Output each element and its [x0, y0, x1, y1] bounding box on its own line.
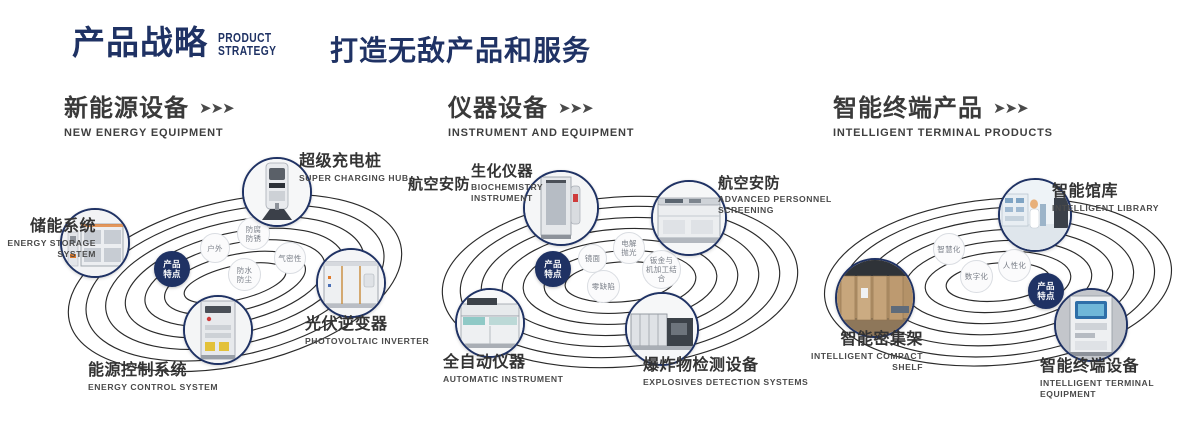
caption-intelligent-terminal-equipment: 智能终端设备 INTELLIGENT TERMINAL EQUIPMENT: [1040, 358, 1200, 400]
caption-en: ENERGY CONTROL SYSTEM: [88, 382, 218, 393]
caption-en: PHOTOVOLTAIC INVERTER: [305, 336, 429, 347]
feature-line1: 镜面: [585, 254, 601, 263]
node-advanced-personnel-screening[interactable]: [651, 180, 727, 256]
cluster-new-energy: 产品 特点 户外 防腐 防锈 防水 防尘 气密性: [50, 155, 420, 385]
caption-cn: 光伏逆变器: [305, 316, 429, 334]
caption-biochemistry-instrument: 生化仪器 BIOCHEMISTRY INSTRUMENT: [471, 163, 543, 204]
caption-cn: 超级充电桩: [299, 153, 409, 171]
node-photovoltaic-inverter[interactable]: [316, 248, 386, 318]
caption-cn: 航空安防: [400, 176, 470, 193]
caption-cn: 能源控制系统: [88, 362, 218, 380]
caption-cn: 航空安防: [718, 175, 832, 192]
caption-cn: 智能终端设备: [1040, 358, 1200, 376]
screening-machine-illustration: [653, 182, 725, 254]
section-subtitle-en: INTELLIGENT TERMINAL PRODUCTS: [833, 127, 1053, 139]
feature-line1: 气密性: [278, 254, 301, 263]
caption-en: INTELLIGENT TERMINAL EQUIPMENT: [1040, 378, 1200, 400]
feature-line2: 机加工结合: [643, 265, 680, 283]
page-title-en-line2: STRATEGY: [218, 45, 276, 58]
page-header: 产品战略 PRODUCT STRATEGY: [72, 26, 289, 60]
feature-line1: 数字化: [965, 272, 988, 281]
feature-core-line1: 产品: [1037, 281, 1055, 291]
caption-cn: 智能馆库: [1052, 183, 1159, 201]
chevron-right-icon: ➤➤➤: [199, 96, 234, 122]
product-strategy-infographic: 产品战略 PRODUCT STRATEGY 打造无敌产品和服务 新能源设备 ➤➤…: [0, 0, 1200, 422]
node-intelligent-compact-shelf[interactable]: [835, 258, 915, 338]
feature-bubble: 防水 防尘: [228, 258, 261, 291]
node-energy-control-system[interactable]: [183, 295, 253, 365]
feature-line1: 防腐: [246, 225, 262, 234]
caption-cn: 储能系统: [0, 218, 96, 236]
caption-super-charging-hub: 超级充电桩 SUPER CHARGING HUB: [299, 153, 409, 184]
section-title-new-energy: 新能源设备 ➤➤➤ NEW ENERGY EQUIPMENT: [64, 96, 234, 139]
node-explosives-detection-systems[interactable]: [625, 292, 699, 366]
section-title-cn: 新能源设备 ➤➤➤: [64, 96, 234, 122]
caption-cn: 生化仪器: [471, 163, 543, 180]
caption-intelligent-compact-shelf: 智能密集架 INTELLIGENT COMPACT SHELF: [790, 331, 923, 373]
caption-en: SUPER CHARGING HUB: [299, 173, 409, 184]
caption-en: AUTOMATIC INSTRUMENT: [443, 374, 563, 385]
feature-line2: 抛光: [621, 248, 637, 257]
caption-en-line2: SCREENING: [718, 205, 832, 216]
feature-line2: 防尘: [237, 275, 253, 284]
feature-bubble: 钣金与 机加工结合: [642, 250, 681, 289]
section-title-cn: 仪器设备 ➤➤➤: [448, 96, 634, 122]
caption-automatic-instrument: 全自动仪器 AUTOMATIC INSTRUMENT: [443, 354, 563, 385]
feature-core-line2: 特点: [1037, 291, 1055, 301]
feature-core-line1: 产品: [544, 259, 562, 269]
section-title-cn: 智能终端产品 ➤➤➤: [833, 96, 1053, 122]
section-title-text: 智能终端产品: [833, 96, 983, 122]
feature-bubble: 镜面: [578, 244, 607, 273]
section-subtitle-en: INSTRUMENT AND EQUIPMENT: [448, 127, 634, 139]
feature-core-line2: 特点: [544, 269, 562, 279]
feature-bubble: 零缺陷: [587, 270, 620, 303]
feature-line1: 电解: [621, 239, 637, 248]
chevron-right-icon: ➤➤➤: [558, 96, 593, 122]
node-intelligent-terminal-equipment[interactable]: [1054, 288, 1128, 362]
caption-en-line1: BIOCHEMISTRY: [471, 182, 543, 193]
feature-core-bubble: 产品 特点: [535, 251, 571, 287]
caption-en-line2: SHELF: [790, 362, 923, 373]
caption-en-line1: ADVANCED PERSONNEL: [718, 194, 832, 205]
caption-intelligent-library: 智能馆库 INTELLIGENT LIBRARY: [1052, 183, 1159, 214]
caption-en-line2: INSTRUMENT: [471, 193, 543, 204]
feature-line1: 防水: [237, 266, 253, 275]
caption-energy-control-system: 能源控制系统 ENERGY CONTROL SYSTEM: [88, 362, 218, 393]
automatic-instrument-illustration: [457, 290, 523, 356]
feature-bubble: 气密性: [274, 242, 306, 274]
section-title-instrument: 仪器设备 ➤➤➤ INSTRUMENT AND EQUIPMENT: [448, 96, 634, 139]
page-slogan: 打造无敌产品和服务: [330, 36, 591, 66]
terminal-equipment-illustration: [1056, 290, 1126, 360]
control-system-illustration: [185, 297, 251, 363]
section-title-intelligent-terminal: 智能终端产品 ➤➤➤ INTELLIGENT TERMINAL PRODUCTS: [833, 96, 1053, 139]
explosives-detection-illustration: [627, 294, 697, 364]
feature-bubble: 户外: [200, 233, 230, 263]
caption-en: BIOCHEMISTRY INSTRUMENT: [471, 182, 543, 204]
feature-line1: 智慧化: [937, 245, 960, 254]
section-subtitle-en: NEW ENERGY EQUIPMENT: [64, 127, 234, 139]
caption-cn: 爆炸物检测设备: [643, 357, 808, 375]
caption-advanced-personnel-screening: 航空安防 ADVANCED PERSONNEL SCREENING: [718, 175, 832, 216]
feature-line1: 户外: [207, 244, 223, 253]
compact-shelf-illustration: [837, 260, 913, 336]
caption-en: INTELLIGENT LIBRARY: [1052, 203, 1159, 214]
caption-en: ENERGY STORAGE SYSTEM: [0, 238, 96, 260]
feature-bubble: 数字化: [960, 260, 993, 293]
section-title-text: 仪器设备: [448, 96, 548, 122]
feature-line1: 零缺陷: [592, 282, 615, 291]
chevron-right-icon: ➤➤➤: [993, 96, 1028, 122]
caption-en: EXPLOSIVES DETECTION SYSTEMS: [643, 377, 808, 388]
feature-line2: 防锈: [246, 234, 262, 243]
caption-aviation-security: 航空安防: [400, 176, 470, 193]
feature-core-bubble: 产品 特点: [154, 251, 190, 287]
caption-en-line1: ENERGY STORAGE: [0, 238, 96, 249]
caption-energy-storage-system: 储能系统 ENERGY STORAGE SYSTEM: [0, 218, 96, 260]
caption-cn: 全自动仪器: [443, 354, 563, 372]
caption-explosives-detection-systems: 爆炸物检测设备 EXPLOSIVES DETECTION SYSTEMS: [643, 357, 808, 388]
caption-en: ADVANCED PERSONNEL SCREENING: [718, 194, 832, 216]
page-title-en: PRODUCT STRATEGY: [218, 32, 276, 58]
feature-line1: 人性化: [1003, 261, 1026, 270]
caption-cn: 智能密集架: [790, 331, 923, 349]
feature-line1: 钣金与: [650, 256, 673, 265]
caption-en-line1: INTELLIGENT COMPACT: [790, 351, 923, 362]
page-title-cn: 产品战略: [72, 26, 208, 60]
feature-bubble: 人性化: [998, 249, 1031, 282]
inverter-illustration: [318, 250, 384, 316]
feature-bubble: 电解 抛光: [613, 232, 645, 264]
caption-en: INTELLIGENT COMPACT SHELF: [790, 351, 923, 373]
caption-photovoltaic-inverter: 光伏逆变器 PHOTOVOLTAIC INVERTER: [305, 316, 429, 347]
caption-en-line2: SYSTEM: [0, 249, 96, 260]
feature-core-line1: 产品: [163, 259, 181, 269]
node-automatic-instrument[interactable]: [455, 288, 525, 358]
feature-core-line2: 特点: [163, 269, 181, 279]
feature-bubble: 智慧化: [933, 233, 965, 265]
section-title-text: 新能源设备: [64, 96, 189, 122]
